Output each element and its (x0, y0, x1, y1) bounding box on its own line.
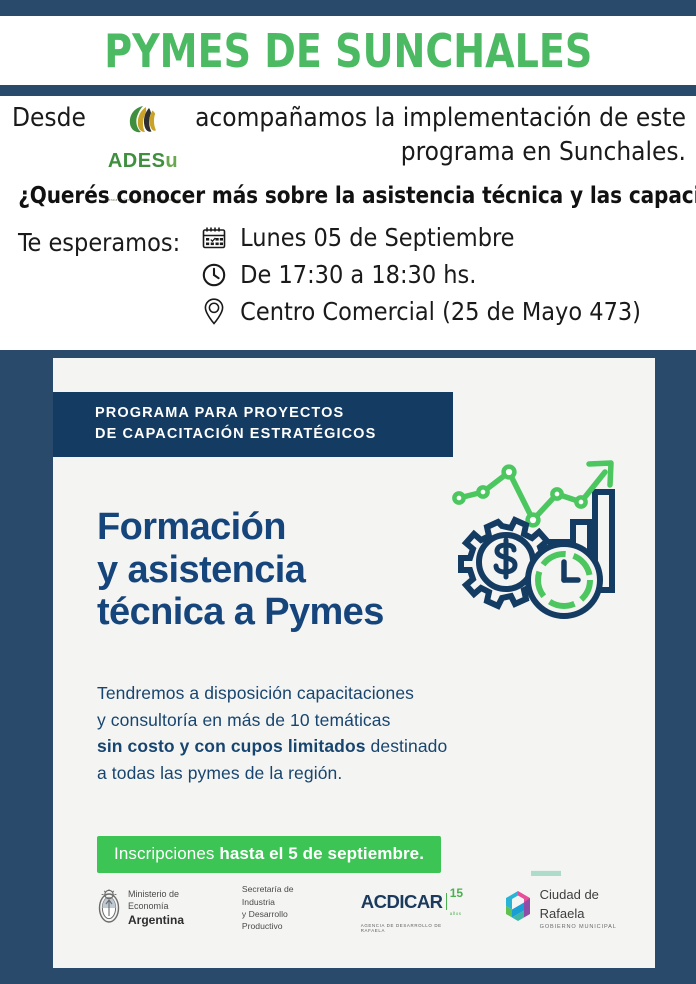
body-line3-rest: destinado (366, 736, 448, 756)
ministerio-text: Ministerio de Economía Argentina (128, 888, 208, 928)
event-location-text: Centro Comercial (25 de Mayo 473) (240, 297, 641, 326)
mid-navy-band (0, 85, 696, 96)
growth-chart-gear-clock-illustration (447, 450, 637, 630)
acdicar-tagline: AGENCIA DE DESARROLLO DE RAFAELA (361, 923, 467, 933)
page-title: PYMES DE SUNCHALES (104, 28, 592, 74)
acdicar-divider (446, 893, 447, 910)
hexagon-multicolor-icon (503, 890, 533, 927)
intro-after-logo: acompañamos la implementación de este (195, 103, 686, 133)
body-line1: Tendremos a disposición capacitaciones (97, 680, 447, 707)
event-row-time: De 17:30 a 18:30 hs. (194, 256, 641, 293)
acdicar-badge-label: años (450, 911, 462, 916)
program-banner-line2: DE CAPACITACIÓN ESTRATÉGICOS (95, 424, 453, 445)
calendar-icon (194, 225, 234, 251)
intro-prefix: Desde (12, 102, 86, 135)
secretaria-line1: Secretaría de Industria (242, 883, 321, 908)
rafaela-text: Ciudad de Rafaela GOBIERNO MUNICIPAL (540, 885, 631, 931)
program-banner: PROGRAMA PARA PROYECTOS DE CAPACITACIÓN … (53, 392, 453, 457)
flyer-background: PROGRAMA PARA PROYECTOS DE CAPACITACIÓN … (0, 350, 696, 984)
flyer-card: PROGRAMA PARA PROYECTOS DE CAPACITACIÓN … (53, 358, 655, 968)
body-line4: a todas las pymes de la región. (97, 760, 447, 787)
cta-prefix: Inscripciones (114, 844, 219, 863)
inscription-cta-banner[interactable]: Inscripciones hasta el 5 de septiembre. (97, 836, 441, 873)
secretaria-industria-logo: Secretaría de Industria y Desarrollo Pro… (242, 883, 321, 933)
headline-line2: y asistencia (97, 549, 384, 592)
ministerio-line1: Ministerio de Economía (128, 889, 179, 911)
location-pin-icon (194, 297, 234, 327)
event-row-location: Centro Comercial (25 de Mayo 473) (194, 293, 641, 330)
flyer-body-copy: Tendremos a disposición capacitaciones y… (97, 680, 447, 786)
adesu-swirl-icon (127, 111, 159, 141)
acdicar-badge: 15 años (450, 884, 467, 920)
body-line3-bold: sin costo y con cupos limitados (97, 736, 366, 756)
rafaela-line1: Ciudad de Rafaela (540, 887, 599, 921)
body-line3: sin costo y con cupos limitados destinad… (97, 733, 447, 760)
event-row-date: Lunes 05 de Septiembre (194, 219, 641, 256)
clock-icon (194, 262, 234, 288)
ciudad-de-rafaela-logo: Ciudad de Rafaela GOBIERNO MUNICIPAL (503, 885, 631, 931)
ministerio-line2: Argentina (128, 912, 208, 928)
flyer-headline: Formación y asistencia técnica a Pymes (97, 506, 384, 634)
title-band: PYMES DE SUNCHALES (0, 16, 696, 85)
headline-line3: técnica a Pymes (97, 591, 384, 634)
cta-bold: hasta el 5 de septiembre. (219, 844, 424, 863)
event-rows: Lunes 05 de Septiembre De 17:30 a 18:30 … (194, 219, 641, 330)
acdicar-wordmark: ACDICAR (361, 891, 443, 913)
event-block: Te esperamos: (8, 219, 688, 330)
acdicar-logo: ACDICAR 15 años AGENCIA DE DESARROLLO DE… (361, 884, 467, 933)
top-navy-band (0, 0, 696, 16)
info-area: Desde ADESu Agencia de Desarrollo Económ… (0, 96, 696, 350)
acdicar-row: ACDICAR 15 años (361, 884, 467, 920)
rafaela-line2: GOBIERNO MUNICIPAL (540, 924, 631, 931)
intro-line: Desde ADESu Agencia de Desarrollo Económ… (8, 102, 688, 135)
secretaria-line2: y Desarrollo Productivo (242, 908, 321, 933)
event-date-text: Lunes 05 de Septiembre (240, 223, 514, 252)
body-line2: y consultoría en más de 10 temáticas (97, 707, 447, 734)
argentina-coat-of-arms-icon (97, 888, 121, 929)
mint-arc-decoration (531, 766, 649, 876)
headline-line1: Formación (97, 506, 384, 549)
acdicar-badge-number: 15 (450, 886, 463, 900)
adesu-wordmark: ADESu (108, 150, 178, 172)
program-banner-line1: PROGRAMA PARA PROYECTOS (95, 403, 453, 424)
event-time-text: De 17:30 a 18:30 hs. (240, 260, 476, 289)
ministerio-economia-argentina-logo: Ministerio de Economía Argentina (97, 888, 208, 929)
footer-logos: Ministerio de Economía Argentina Secreta… (97, 886, 631, 930)
event-label: Te esperamos: (18, 219, 180, 257)
question-line: ¿Querés conocer más sobre la asistencia … (18, 183, 678, 209)
